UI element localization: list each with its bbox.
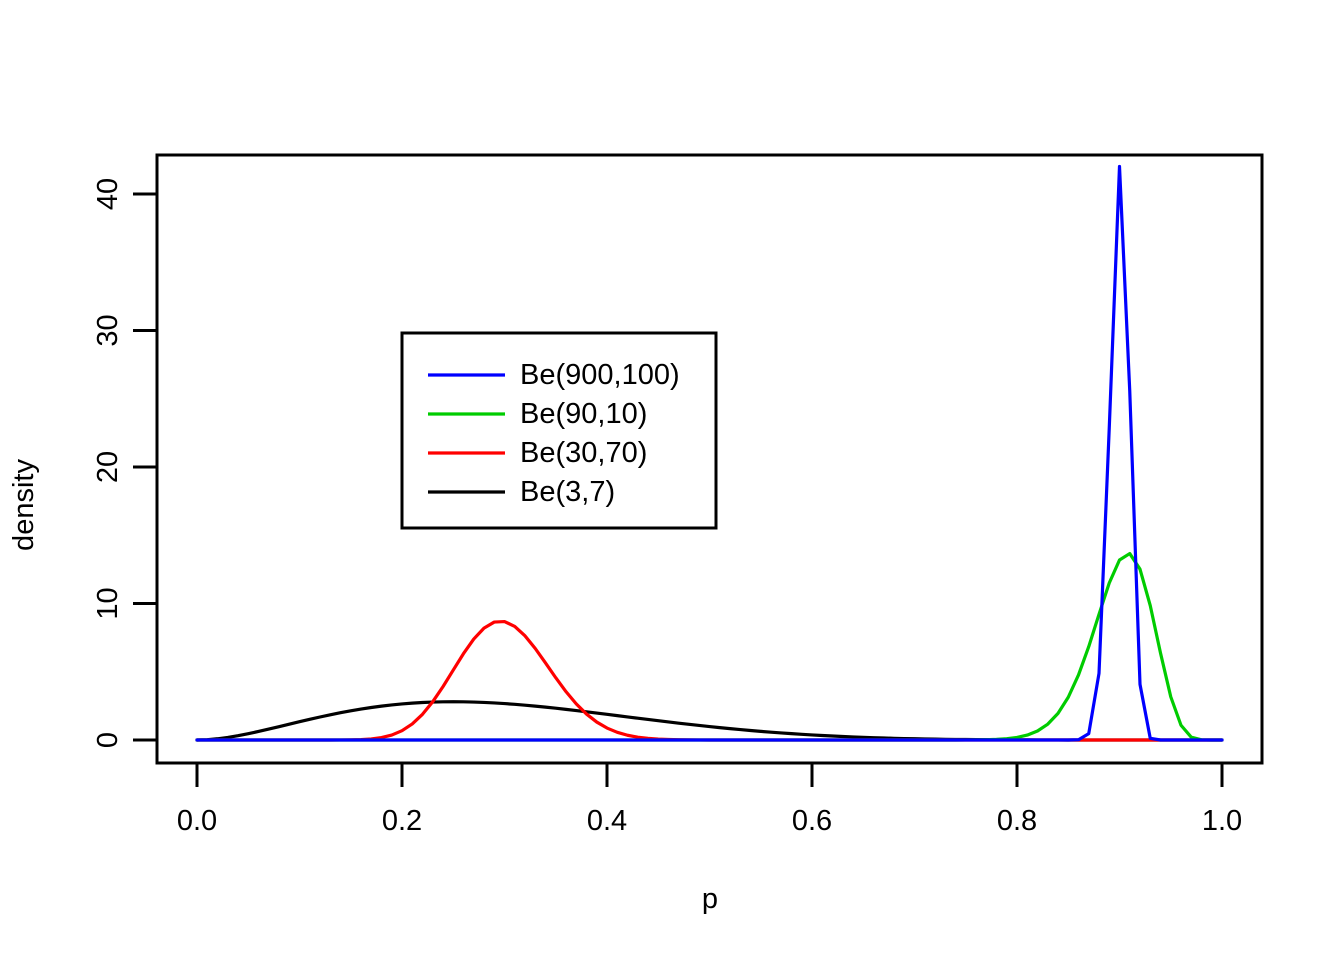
x-tick-label: 0.0 xyxy=(177,805,217,837)
x-tick-label: 0.4 xyxy=(587,805,627,837)
x-tick-label: 1.0 xyxy=(1202,805,1242,837)
legend-label-3: Be(3,7) xyxy=(520,476,615,508)
y-tick-label: 30 xyxy=(92,314,124,346)
legend-label-1: Be(90,10) xyxy=(520,398,647,430)
curve-be-3-7 xyxy=(197,702,1222,740)
chart-page: 0.00.20.40.60.81.0 010203040 p density B… xyxy=(0,0,1344,960)
x-tick-label: 0.6 xyxy=(792,805,832,837)
x-tick-label: 0.8 xyxy=(997,805,1037,837)
x-tick-label: 0.2 xyxy=(382,805,422,837)
curve-be-30-70 xyxy=(197,622,1222,740)
legend-label-0: Be(900,100) xyxy=(520,359,680,391)
x-axis-title: p xyxy=(702,883,718,915)
y-tick-label: 10 xyxy=(92,587,124,619)
beta-density-plot: 0.00.20.40.60.81.0 010203040 p density B… xyxy=(0,0,1344,960)
legend-label-2: Be(30,70) xyxy=(520,437,647,469)
y-axis-ticks: 010203040 xyxy=(92,178,157,748)
y-tick-label: 40 xyxy=(92,178,124,210)
y-tick-label: 20 xyxy=(92,451,124,483)
y-axis-title: density xyxy=(8,459,40,551)
y-tick-label: 0 xyxy=(92,732,124,748)
x-axis-ticks: 0.00.20.40.60.81.0 xyxy=(177,763,1242,837)
